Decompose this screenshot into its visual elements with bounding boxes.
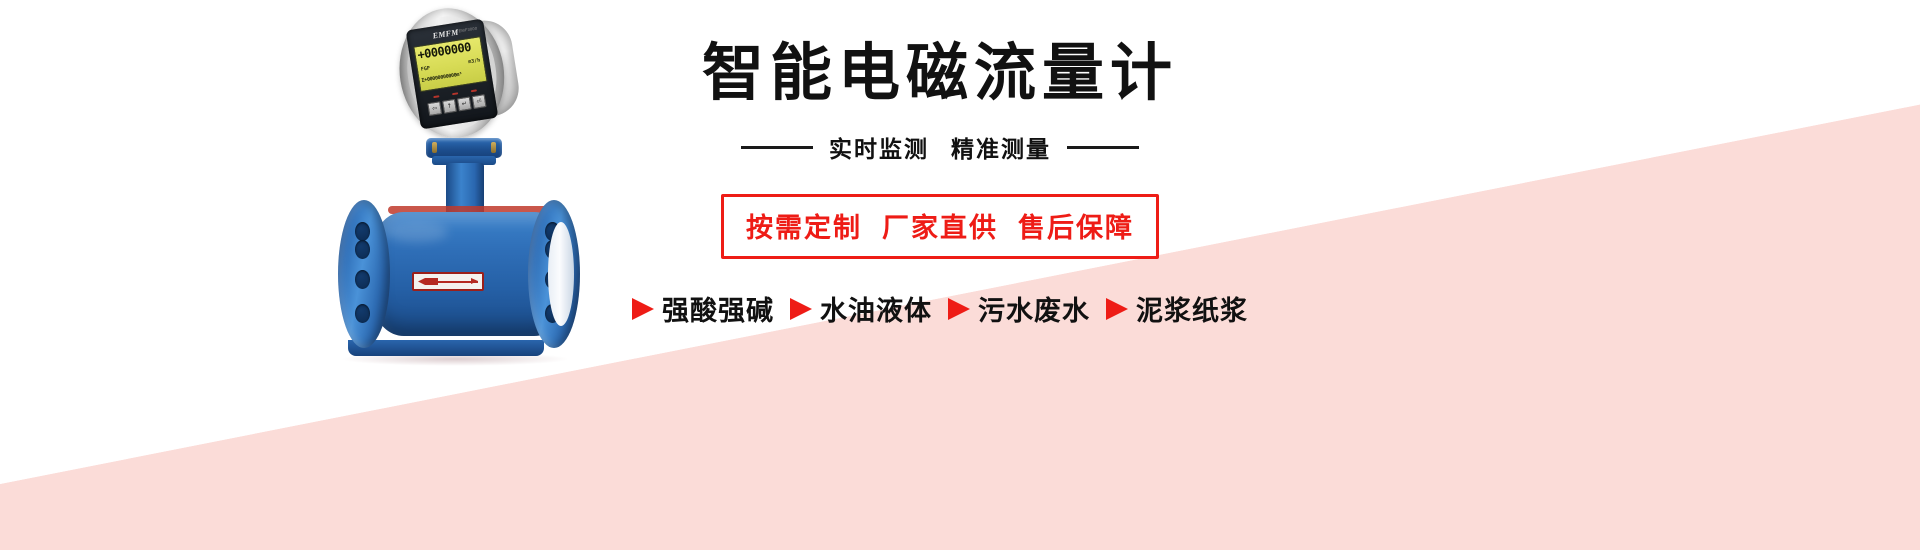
promo-item-2: 厂家直供 [882,213,998,243]
banner-content: 智能电磁流量计 实时监测精准测量 按需定制厂家直供售后保障 强酸强碱 水油液体 … [660,40,1220,328]
flange-liner [548,222,574,326]
application-item-4: 泥浆纸浆 [1106,289,1248,328]
lcd-display: +0000000 FGP m3/h Σ+00000000000m³ [413,36,487,92]
application-label: 强酸强碱 [662,289,774,328]
keypad-button[interactable]: ↑ [442,99,457,114]
subtitle: 实时监测精准测量 [829,130,1051,164]
status-led [452,92,458,95]
status-led [433,95,439,98]
bolt-hole [355,270,370,289]
flow-direction-arrow-icon [418,278,478,285]
triangle-right-icon [948,298,970,320]
product-banner: EMFM EMF3000 +0000000 FGP m3/h Σ+0000000… [0,0,1920,550]
product-image: EMFM EMF3000 +0000000 FGP m3/h Σ+0000000… [300,0,630,420]
promo-item-3: 售后保障 [1018,213,1134,243]
promo-item-1: 按需定制 [746,213,862,243]
lcd-tag: FGP [420,65,430,72]
subtitle-row: 实时监测精准测量 [660,130,1220,164]
application-list: 强酸强碱 水油液体 污水废水 泥浆纸浆 [660,289,1220,328]
triangle-right-icon [790,298,812,320]
triangle-right-icon [1106,298,1128,320]
application-label: 水油液体 [820,289,932,328]
bolt-hole [355,304,370,323]
promo-box-text: 按需定制厂家直供售后保障 [746,206,1134,245]
flow-direction-label [412,272,484,291]
page-title: 智能电磁流量计 [660,40,1220,108]
application-label: 泥浆纸浆 [1136,289,1248,328]
rule-left [741,146,813,149]
converter-head: EMFM EMF3000 +0000000 FGP m3/h Σ+0000000… [376,0,528,153]
keypad-button[interactable]: ⏎ [472,94,487,109]
flange-left [338,200,390,348]
lcd-unit: m3/h [468,57,481,65]
neck-flange-upper [426,138,502,158]
converter-faceplate: EMFM EMF3000 +0000000 FGP m3/h Σ+0000000… [406,19,499,130]
bolt-hole [355,222,370,241]
keypad-button[interactable]: ↵ [457,97,472,112]
subtitle-left: 实时监测 [829,136,929,162]
subtitle-right: 精准测量 [951,136,1051,162]
flowmeter-body-base [348,340,544,356]
application-label: 污水废水 [978,289,1090,328]
promo-box: 按需定制厂家直供售后保障 [721,194,1159,259]
status-led [471,89,477,92]
keypad-button[interactable]: ⇦ [427,101,442,116]
triangle-right-icon [632,298,654,320]
application-item-3: 污水废水 [948,289,1090,328]
bolt-hole [355,240,370,259]
application-item-1: 强酸强碱 [632,289,774,328]
rule-right [1067,146,1139,149]
application-item-2: 水油液体 [790,289,932,328]
